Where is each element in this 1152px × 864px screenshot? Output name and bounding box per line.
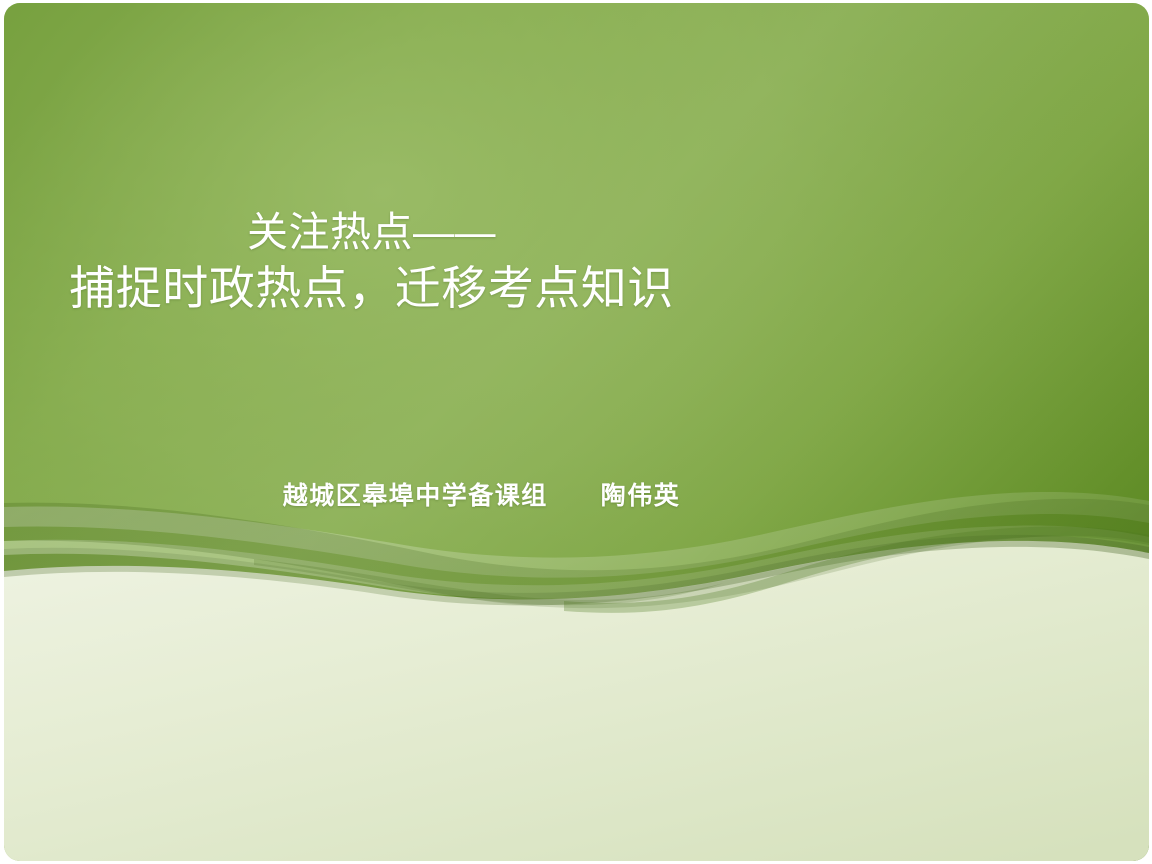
slide-title: 关注热点—— 捕捉时政热点，迁移考点知识	[4, 208, 739, 316]
presentation-slide: 关注热点—— 捕捉时政热点，迁移考点知识 越城区皋埠中学备课组 陶伟英	[0, 0, 1152, 864]
slide-text-layer: 关注热点—— 捕捉时政热点，迁移考点知识 越城区皋埠中学备课组 陶伟英	[4, 3, 1149, 861]
slide-subtitle: 越城区皋埠中学备课组 陶伟英	[4, 476, 959, 512]
slide-title-line-2: 捕捉时政热点，迁移考点知识	[4, 261, 739, 315]
slide-surface: 关注热点—— 捕捉时政热点，迁移考点知识 越城区皋埠中学备课组 陶伟英	[4, 3, 1149, 861]
slide-title-line-1: 关注热点——	[4, 208, 739, 256]
